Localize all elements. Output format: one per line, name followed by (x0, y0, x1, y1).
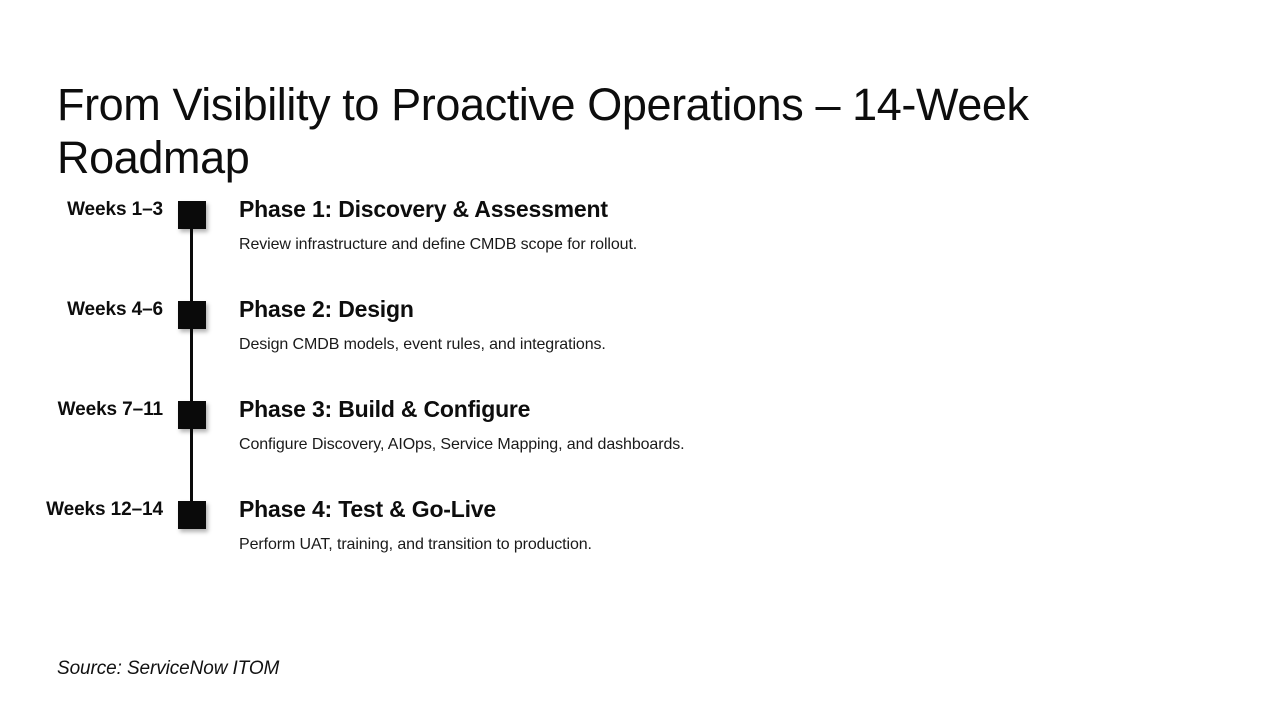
timeline-weeks-label: Weeks 4–6 (0, 296, 163, 323)
timeline-weeks-label: Weeks 12–14 (0, 496, 163, 523)
page-title: From Visibility to Proactive Operations … (57, 78, 1067, 184)
timeline-weeks-label: Weeks 7–11 (0, 396, 163, 423)
timeline-row: Weeks 1–3 Phase 1: Discovery & Assessmen… (0, 186, 1280, 286)
timeline-content: Phase 3: Build & Configure Configure Dis… (239, 386, 1240, 456)
timeline-square-marker-icon (178, 301, 206, 329)
timeline-phase-description: Review infrastructure and define CMDB sc… (239, 233, 1240, 256)
timeline-weeks-label: Weeks 1–3 (0, 196, 163, 223)
timeline-content: Phase 4: Test & Go-Live Perform UAT, tra… (239, 486, 1240, 556)
timeline-phase-description: Perform UAT, training, and transition to… (239, 533, 1240, 556)
timeline-row: Weeks 12–14 Phase 4: Test & Go-Live Perf… (0, 486, 1280, 586)
timeline-square-marker-icon (178, 501, 206, 529)
source-caption: Source: ServiceNow ITOM (57, 655, 279, 682)
timeline: Weeks 1–3 Phase 1: Discovery & Assessmen… (0, 186, 1280, 586)
timeline-content: Phase 1: Discovery & Assessment Review i… (239, 186, 1240, 256)
timeline-square-marker-icon (178, 401, 206, 429)
timeline-square-marker-icon (178, 201, 206, 229)
timeline-content: Phase 2: Design Design CMDB models, even… (239, 286, 1240, 356)
timeline-phase-title: Phase 2: Design (239, 294, 1240, 324)
timeline-phase-title: Phase 1: Discovery & Assessment (239, 194, 1240, 224)
timeline-phase-description: Design CMDB models, event rules, and int… (239, 333, 1240, 356)
timeline-phase-title: Phase 4: Test & Go-Live (239, 494, 1240, 524)
timeline-phase-description: Configure Discovery, AIOps, Service Mapp… (239, 433, 1240, 456)
timeline-phase-title: Phase 3: Build & Configure (239, 394, 1240, 424)
timeline-row: Weeks 7–11 Phase 3: Build & Configure Co… (0, 386, 1280, 486)
roadmap-slide: From Visibility to Proactive Operations … (0, 0, 1280, 720)
timeline-row: Weeks 4–6 Phase 2: Design Design CMDB mo… (0, 286, 1280, 386)
